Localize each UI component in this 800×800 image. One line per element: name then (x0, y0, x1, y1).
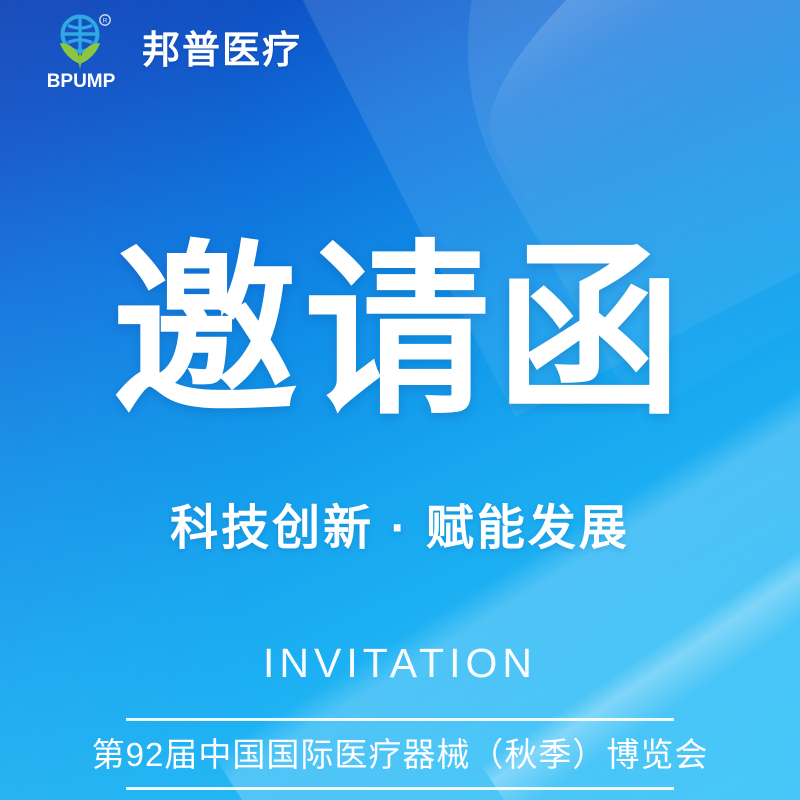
logo-wordmark: BPUMP (47, 71, 116, 90)
subtitle-slogan: 科技创新 · 赋能发展 (0, 505, 800, 553)
invitation-poster: R BPUMP 邦普医疗 邀请函 科技创新 · 赋能发展 INVITATION … (0, 0, 800, 800)
page-title: 邀请函 (0, 240, 800, 426)
bpump-logo-icon: R BPUMP (46, 12, 120, 90)
company-name: 邦普医疗 (142, 32, 302, 70)
brand-header: R BPUMP 邦普医疗 (46, 12, 302, 90)
highlight-streak-decoration (430, 0, 800, 220)
footer-block: 第92届中国国际医疗器械（秋季）博览会 (0, 718, 800, 790)
title-block: 邀请函 (0, 240, 800, 426)
event-name: 第92届中国国际医疗器械（秋季）博览会 (92, 721, 709, 787)
divider-bottom (126, 787, 674, 790)
svg-text:R: R (103, 18, 108, 25)
invitation-english-label: INVITATION (0, 643, 800, 684)
